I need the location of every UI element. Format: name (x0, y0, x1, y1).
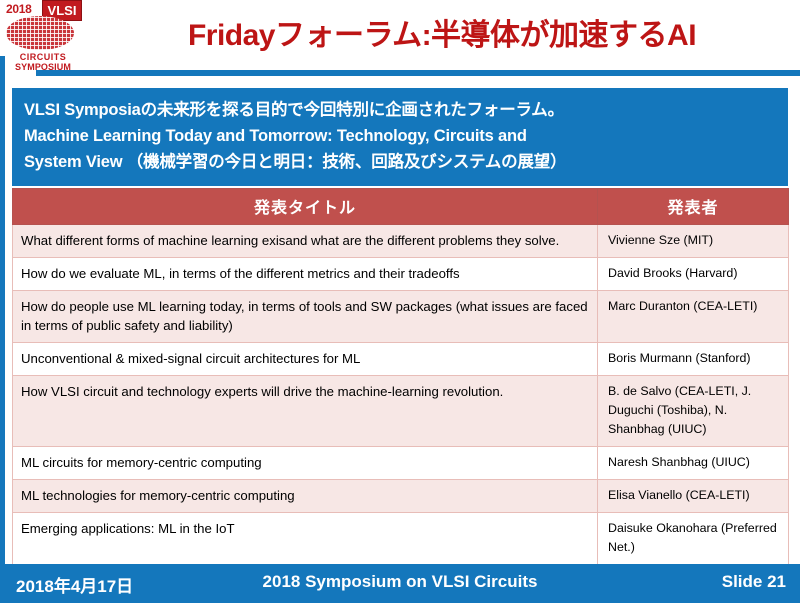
table-row: How VLSI circuit and technology experts … (13, 376, 789, 447)
talk-presenter: Marc Duranton (CEA-LETI) (598, 291, 789, 343)
intro-line-1: VLSI Symposiaの未来形を探る目的で今回特別に企画されたフォーラム。 (24, 97, 778, 123)
talk-presenter: Daisuke Okanohara (Preferred Net.) (598, 513, 789, 565)
column-header-presenter: 発表者 (598, 189, 789, 225)
table-row: What different forms of machine learning… (13, 225, 789, 258)
talk-presenter: B. de Salvo (CEA-LETI, J. Duguchi (Toshi… (598, 376, 789, 447)
talk-title: Unconventional & mixed-signal circuit ar… (13, 343, 598, 376)
talk-title: ML technologies for memory-centric compu… (13, 480, 598, 513)
talk-title: How do we evaluate ML, in terms of the d… (13, 258, 598, 291)
talk-title: What different forms of machine learning… (13, 225, 598, 258)
table-row: Emerging applications: ML in the IoT Dai… (13, 513, 789, 565)
talk-presenter: Vivienne Sze (MIT) (598, 225, 789, 258)
talk-title: Emerging applications: ML in the IoT (13, 513, 598, 565)
vlsi-symposium-logo: 2018 VLSI CIRCUITS SYMPOSIUM (4, 0, 84, 76)
talk-presenter: David Brooks (Harvard) (598, 258, 789, 291)
table-row: ML circuits for memory-centric computing… (13, 447, 789, 480)
forum-description-box: VLSI Symposiaの未来形を探る目的で今回特別に企画されたフォーラム。 … (12, 88, 788, 186)
intro-line-2: Machine Learning Today and Tomorrow: Tec… (24, 123, 778, 149)
slide-footer: 2018年4月17日 2018 Symposium on VLSI Circui… (0, 564, 800, 603)
slide-header: 2018 VLSI CIRCUITS SYMPOSIUM Fridayフォーラム… (0, 0, 800, 76)
talk-title: How VLSI circuit and technology experts … (13, 376, 598, 447)
intro-line-3: System View （機械学習の今日と明日：技術、回路及びシステムの展望） (24, 149, 778, 175)
header-divider (36, 70, 800, 76)
talk-presenter: Elisa Vianello (CEA-LETI) (598, 480, 789, 513)
table-row: Unconventional & mixed-signal circuit ar… (13, 343, 789, 376)
talk-presenter: Boris Murmann (Stanford) (598, 343, 789, 376)
talk-title: ML circuits for memory-centric computing (13, 447, 598, 480)
slide: 2018 VLSI CIRCUITS SYMPOSIUM Fridayフォーラム… (0, 0, 800, 603)
column-header-title: 発表タイトル (13, 189, 598, 225)
table-header-row: 発表タイトル 発表者 (13, 189, 789, 225)
forum-talks-table: 発表タイトル 発表者 What different forms of machi… (12, 188, 789, 565)
left-edge-stripe (0, 56, 5, 564)
talk-title: How do people use ML learning today, in … (13, 291, 598, 343)
table-row: ML technologies for memory-centric compu… (13, 480, 789, 513)
footer-slide-number: Slide 21 (722, 572, 786, 592)
page-title: Fridayフォーラム:半導体が加速するAI (92, 10, 792, 54)
logo-subtitle-line1: CIRCUITS (4, 52, 82, 62)
talk-presenter: Naresh Shanbhag (UIUC) (598, 447, 789, 480)
wafer-icon (6, 16, 74, 50)
logo-year-label: 2018 (6, 2, 32, 16)
table-row: How do we evaluate ML, in terms of the d… (13, 258, 789, 291)
footer-conference-name: 2018 Symposium on VLSI Circuits (0, 572, 800, 592)
table-row: How do people use ML learning today, in … (13, 291, 789, 343)
